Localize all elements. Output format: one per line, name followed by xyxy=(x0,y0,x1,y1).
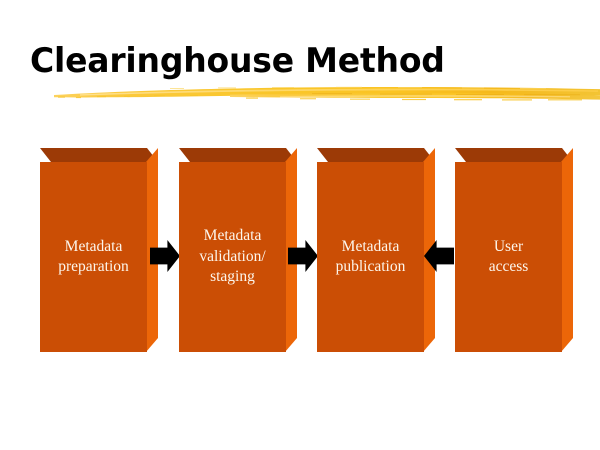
process-box-metadata-publication[interactable]: Metadata publication xyxy=(317,148,435,352)
process-box-label: Metadata validation/ staging xyxy=(196,226,268,287)
process-box-label-line: Metadata xyxy=(58,237,129,257)
arrow-right-icon xyxy=(288,240,318,272)
process-box-label: User access xyxy=(486,237,532,278)
process-box-label-line: validation/ xyxy=(199,247,265,267)
arrow-step4-to-step3 xyxy=(424,240,454,272)
box-top-face xyxy=(455,148,573,162)
arrow-step2-to-step3 xyxy=(288,240,318,272)
brush-stroke-underline xyxy=(50,82,600,106)
page-title: Clearinghouse Method xyxy=(30,44,445,78)
arrow-step1-to-step2 xyxy=(150,240,180,272)
process-box-label-line: Metadata xyxy=(199,226,265,246)
brush-stroke-icon xyxy=(50,82,600,106)
process-box-label-line: Metadata xyxy=(336,237,406,257)
process-box-label: Metadata preparation xyxy=(55,237,132,278)
process-box-label-line: staging xyxy=(199,267,265,287)
box-front-face: Metadata publication xyxy=(317,162,424,352)
process-box-metadata-validation-staging[interactable]: Metadata validation/ staging xyxy=(179,148,297,352)
slide-canvas: Clearinghouse Method xyxy=(0,0,600,450)
box-front-face: User access xyxy=(455,162,562,352)
process-box-label-line: access xyxy=(489,257,529,277)
arrow-right-icon xyxy=(150,240,180,272)
process-box-user-access[interactable]: User access xyxy=(455,148,573,352)
process-box-metadata-preparation[interactable]: Metadata preparation xyxy=(40,148,158,352)
box-side-face xyxy=(561,148,573,352)
box-top-face xyxy=(179,148,297,162)
process-box-label-line: publication xyxy=(336,257,406,277)
box-front-face: Metadata preparation xyxy=(40,162,147,352)
box-top-face xyxy=(317,148,435,162)
process-box-label-line: User xyxy=(489,237,529,257)
box-top-face xyxy=(40,148,158,162)
arrow-left-icon xyxy=(424,240,454,272)
process-box-label-line: preparation xyxy=(58,257,129,277)
box-front-face: Metadata validation/ staging xyxy=(179,162,286,352)
process-box-label: Metadata publication xyxy=(333,237,409,278)
